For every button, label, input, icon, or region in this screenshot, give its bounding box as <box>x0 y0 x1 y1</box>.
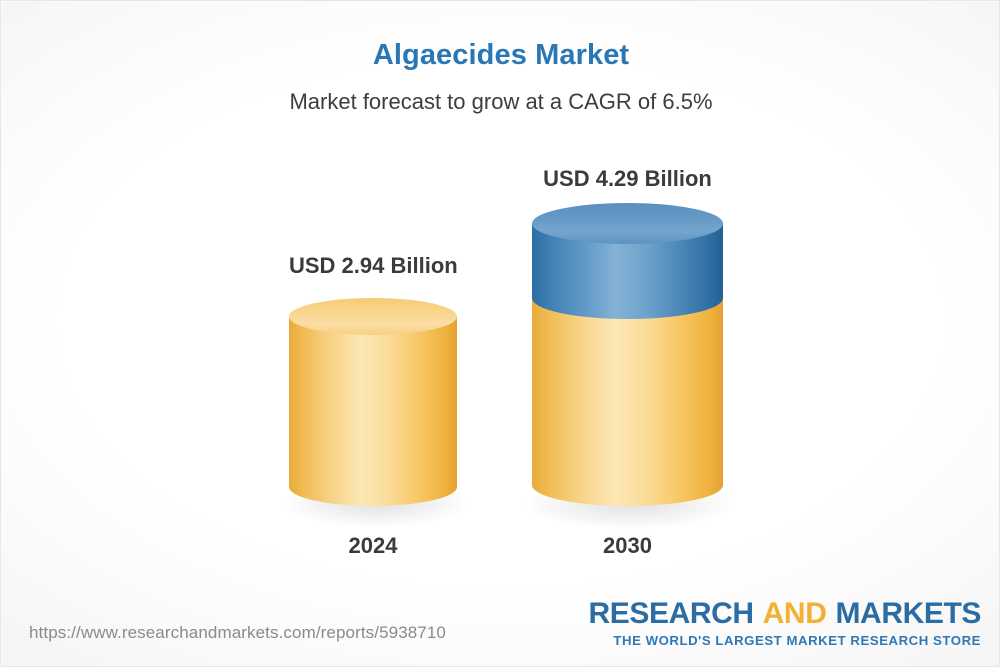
logo-word-and: AND <box>763 597 827 630</box>
cylinder-2024-top-ellipse <box>289 298 457 335</box>
page-subtitle: Market forecast to grow at a CAGR of 6.5… <box>1 89 1000 115</box>
cylinder-2024-body <box>289 316 457 506</box>
value-label-2030: USD 4.29 Billion <box>532 166 723 192</box>
logo-word-markets: MARKETS <box>835 597 981 630</box>
cylinder-2030-top-ellipse <box>532 203 723 244</box>
bar-cylinder-2024 <box>289 298 457 506</box>
page-title: Algaecides Market <box>1 39 1000 72</box>
value-label-2024: USD 2.94 Billion <box>289 253 457 279</box>
bar-cylinder-2030 <box>532 203 723 506</box>
axis-label-2024: 2024 <box>289 533 457 559</box>
logo-word-research: RESEARCH <box>589 597 754 630</box>
logo-wordmark: RESEARCHANDMARKETS <box>589 599 981 629</box>
axis-label-2030: 2030 <box>532 533 723 559</box>
research-and-markets-logo[interactable]: RESEARCHANDMARKETS THE WORLD'S LARGEST M… <box>589 599 981 648</box>
infographic-canvas: Algaecides Market Market forecast to gro… <box>0 0 1000 667</box>
logo-tagline: THE WORLD'S LARGEST MARKET RESEARCH STOR… <box>589 633 981 648</box>
source-url[interactable]: https://www.researchandmarkets.com/repor… <box>29 623 446 643</box>
